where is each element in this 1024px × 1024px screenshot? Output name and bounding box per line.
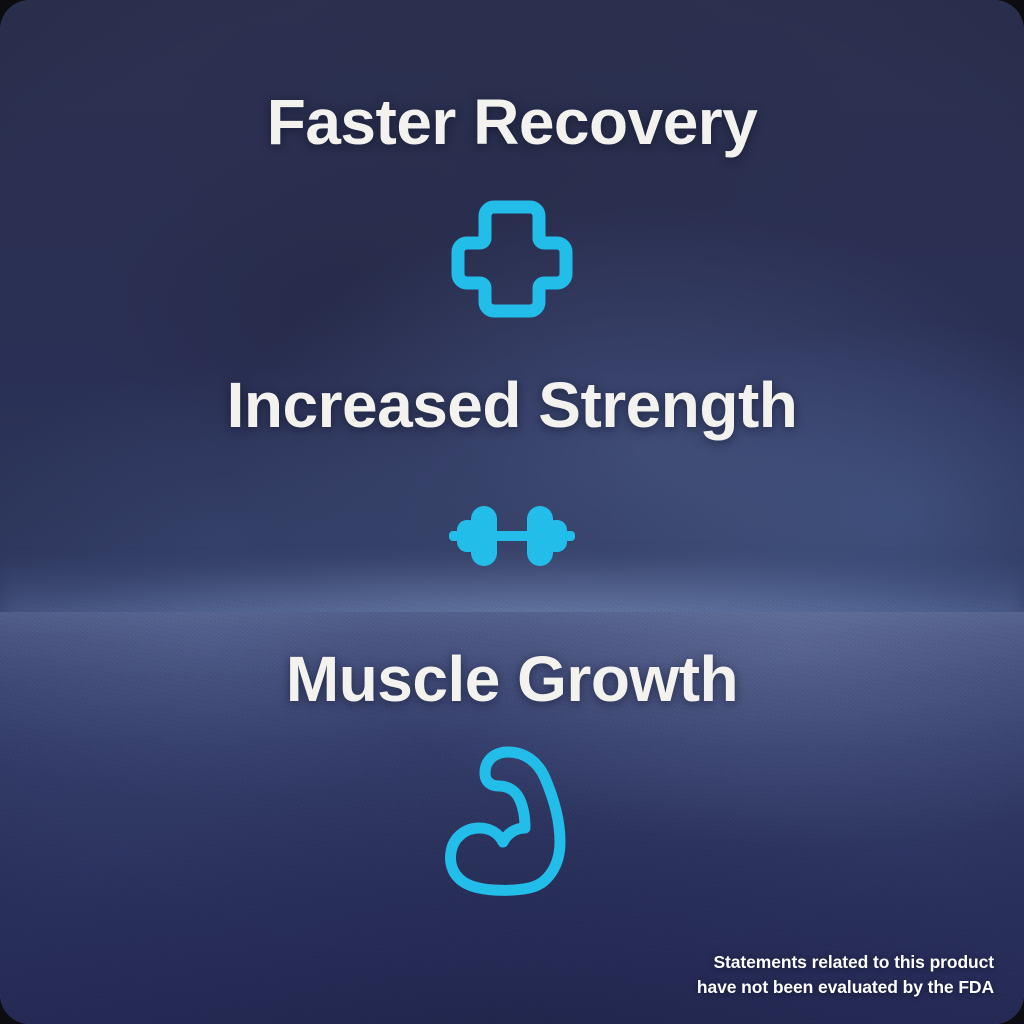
flexed-bicep-icon xyxy=(441,744,583,898)
supplement-benefits-promo-card: Faster Recovery Increased Strength xyxy=(0,0,1024,1024)
benefits-content: Faster Recovery Increased Strength xyxy=(0,0,1024,1024)
benefit-heading-increased-strength: Increased Strength xyxy=(0,368,1024,442)
benefit-heading-faster-recovery: Faster Recovery xyxy=(0,85,1024,159)
medical-cross-icon xyxy=(449,198,575,320)
benefit-heading-muscle-growth: Muscle Growth xyxy=(0,642,1024,716)
dumbbell-icon xyxy=(427,500,597,572)
